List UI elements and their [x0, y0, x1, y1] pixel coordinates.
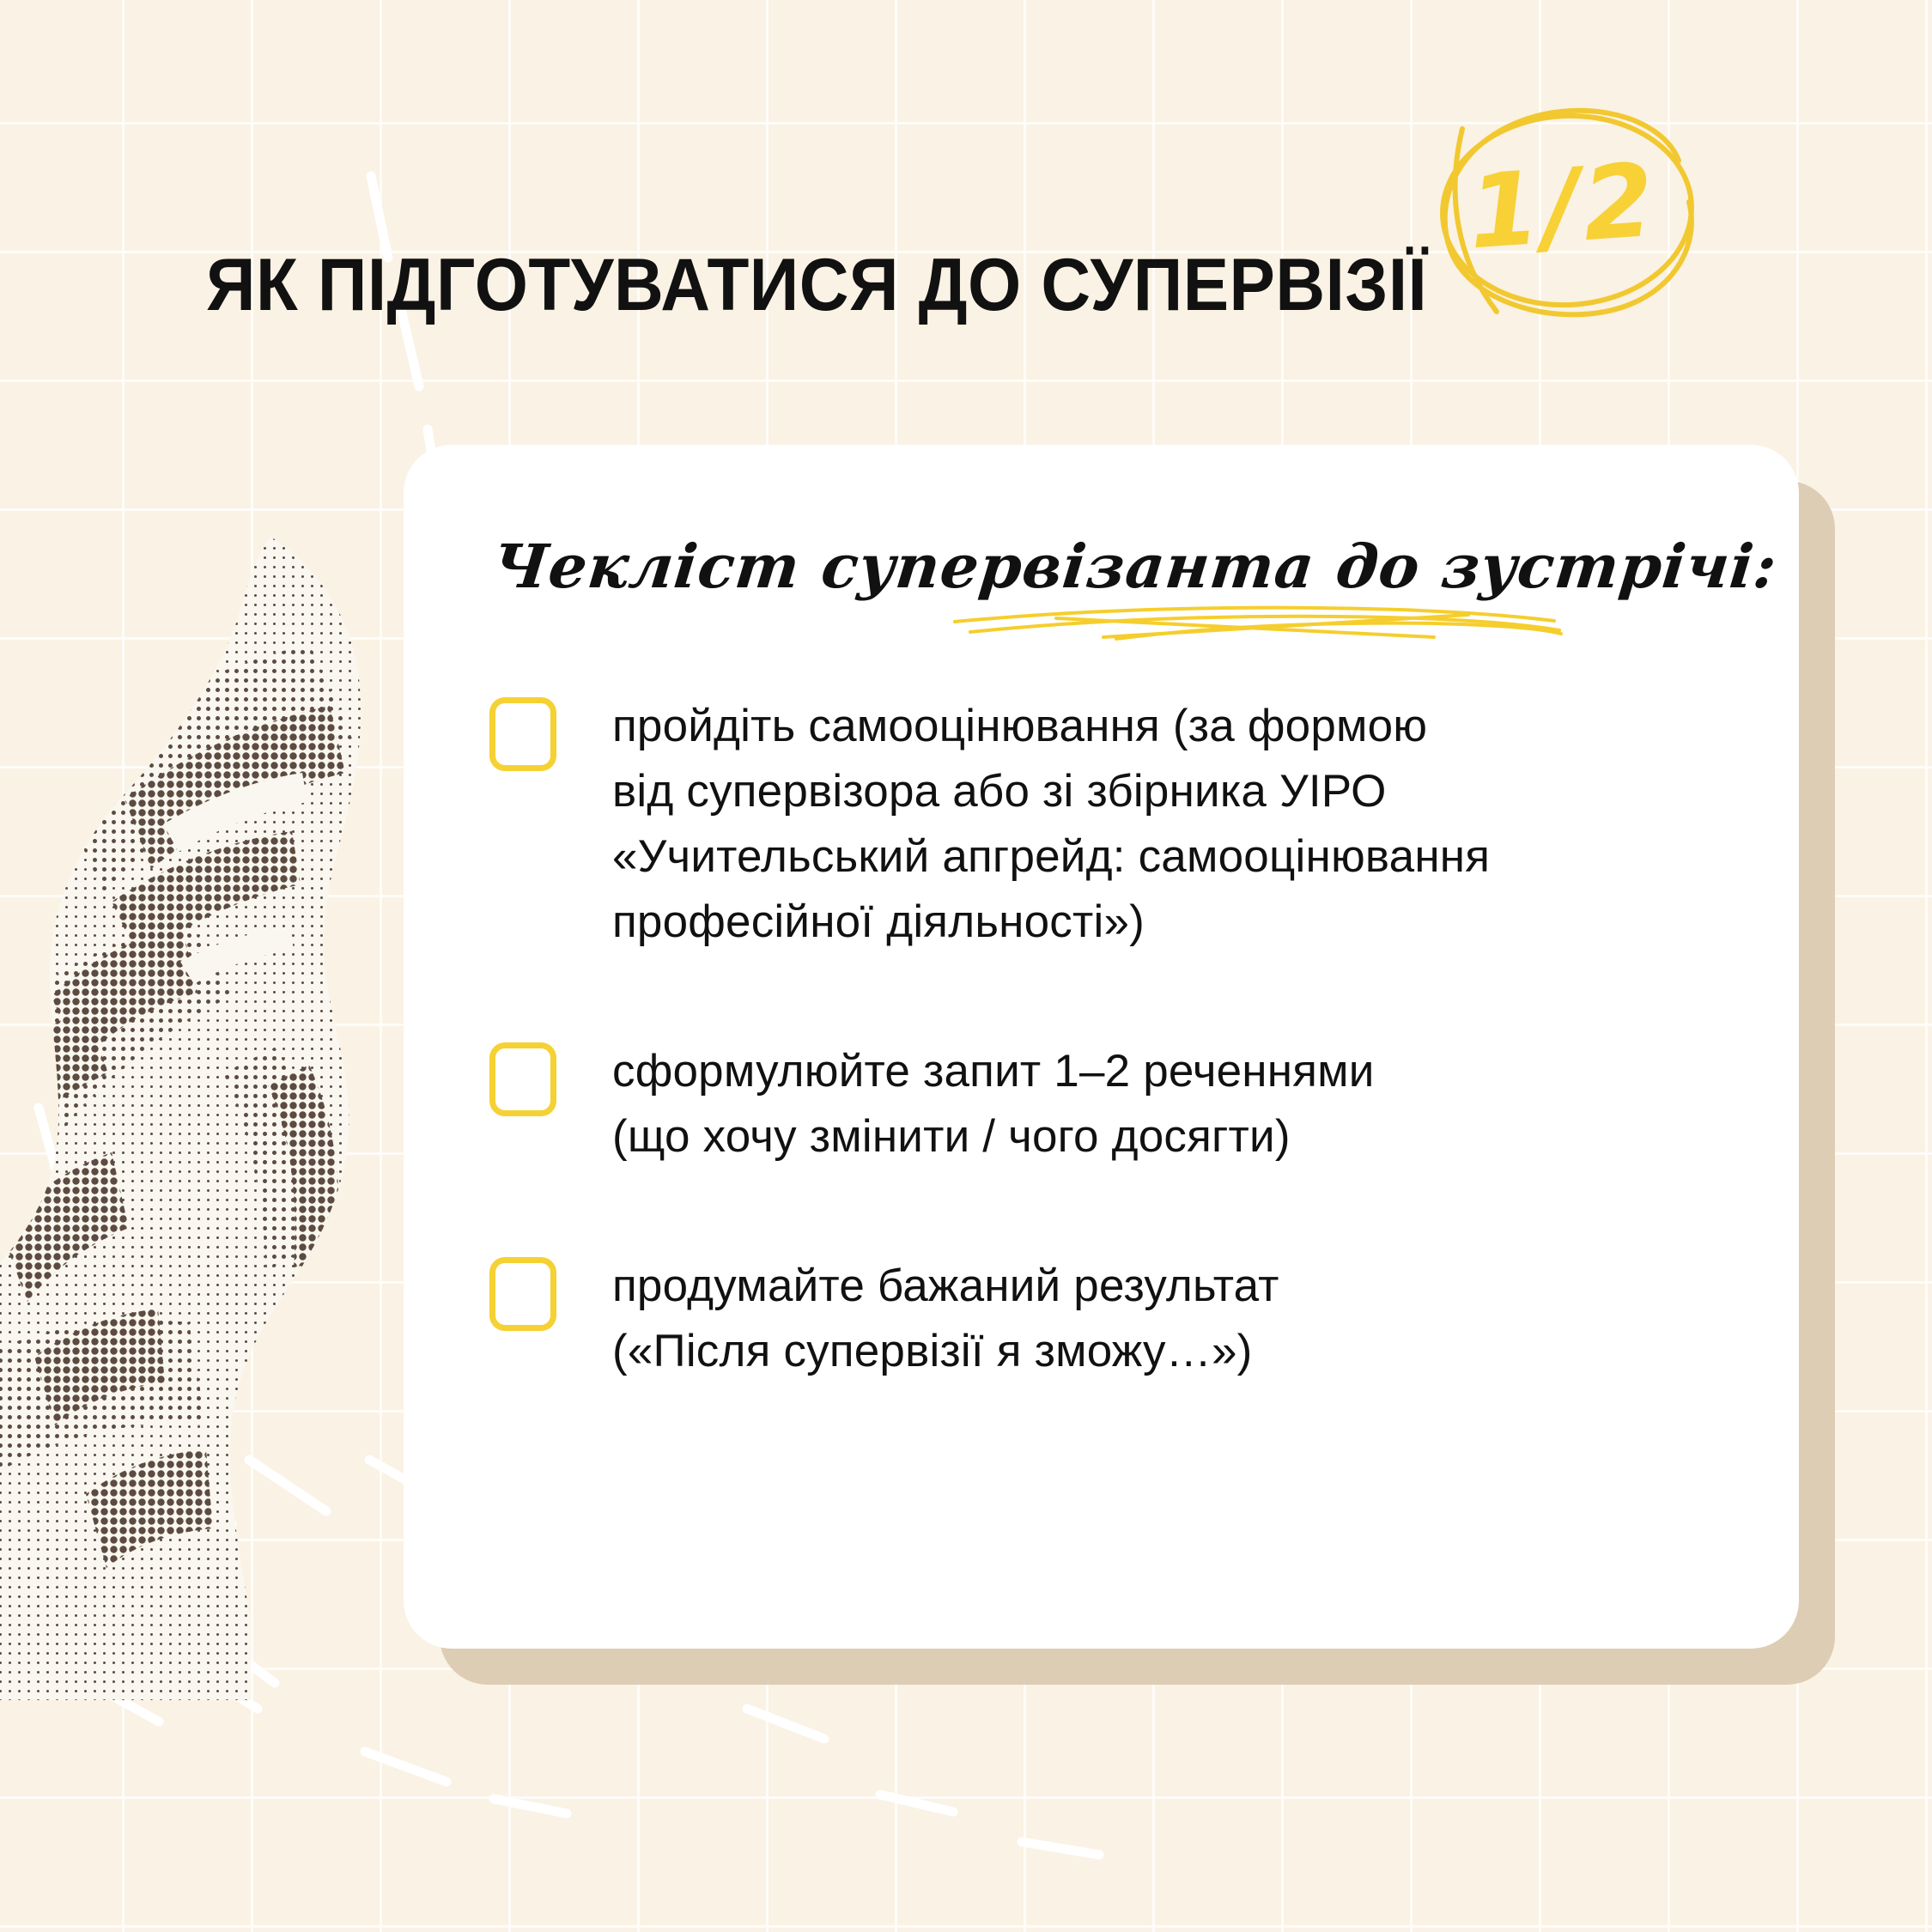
checklist-item-line: (що хочу змінити / чого досягти) — [612, 1104, 1375, 1170]
checklist-item-text: продумайте бажаний результат («Після суп… — [612, 1254, 1279, 1384]
checklist-item-line: професійної діяльності») — [612, 890, 1490, 955]
checklist-item-line: («Після супервізії я зможу…») — [612, 1319, 1279, 1384]
checklist-item-text: сформулюйте запит 1–2 реченнями (що хочу… — [612, 1039, 1375, 1170]
checklist-item-line: сформулюйте запит 1–2 реченнями — [612, 1039, 1375, 1104]
checklist-items: пройдіть самооцінювання (за формою від с… — [489, 694, 1743, 1384]
checklist-item-line: «Учительський апгрейд: самооцінювання — [612, 824, 1490, 890]
checklist-item[interactable]: продумайте бажаний результат («Після суп… — [489, 1254, 1743, 1384]
checkbox-icon[interactable] — [489, 1042, 556, 1116]
checkbox-icon[interactable] — [489, 1257, 556, 1331]
checkbox-icon[interactable] — [489, 697, 556, 771]
card-heading-container: Чекліст супервізанта до зустрічі: — [489, 531, 1709, 642]
page-badge-label: 1/2 — [1413, 72, 1712, 340]
checklist-item-line: від супервізора або зі збірника УІРО — [612, 759, 1490, 824]
checklist-item-text: пройдіть самооцінювання (за формою від с… — [612, 694, 1490, 955]
checklist-card: Чекліст супервізанта до зустрічі: пройді… — [404, 445, 1799, 1649]
checklist-item[interactable]: сформулюйте запит 1–2 реченнями (що хочу… — [489, 1039, 1743, 1170]
checklist-item-line: пройдіть самооцінювання (за формою — [612, 694, 1490, 759]
heading-underline-scribble — [953, 592, 1563, 653]
checklist-item-line: продумайте бажаний результат — [612, 1254, 1279, 1319]
checklist-item[interactable]: пройдіть самооцінювання (за формою від с… — [489, 694, 1743, 955]
card-heading: Чекліст супервізанта до зустрічі: — [489, 531, 1716, 602]
page-title: ЯК ПІДГОТУВАТИСЯ ДО СУПЕРВІЗІЇ — [206, 243, 1427, 328]
page-number-badge: 1/2 — [1421, 82, 1704, 331]
